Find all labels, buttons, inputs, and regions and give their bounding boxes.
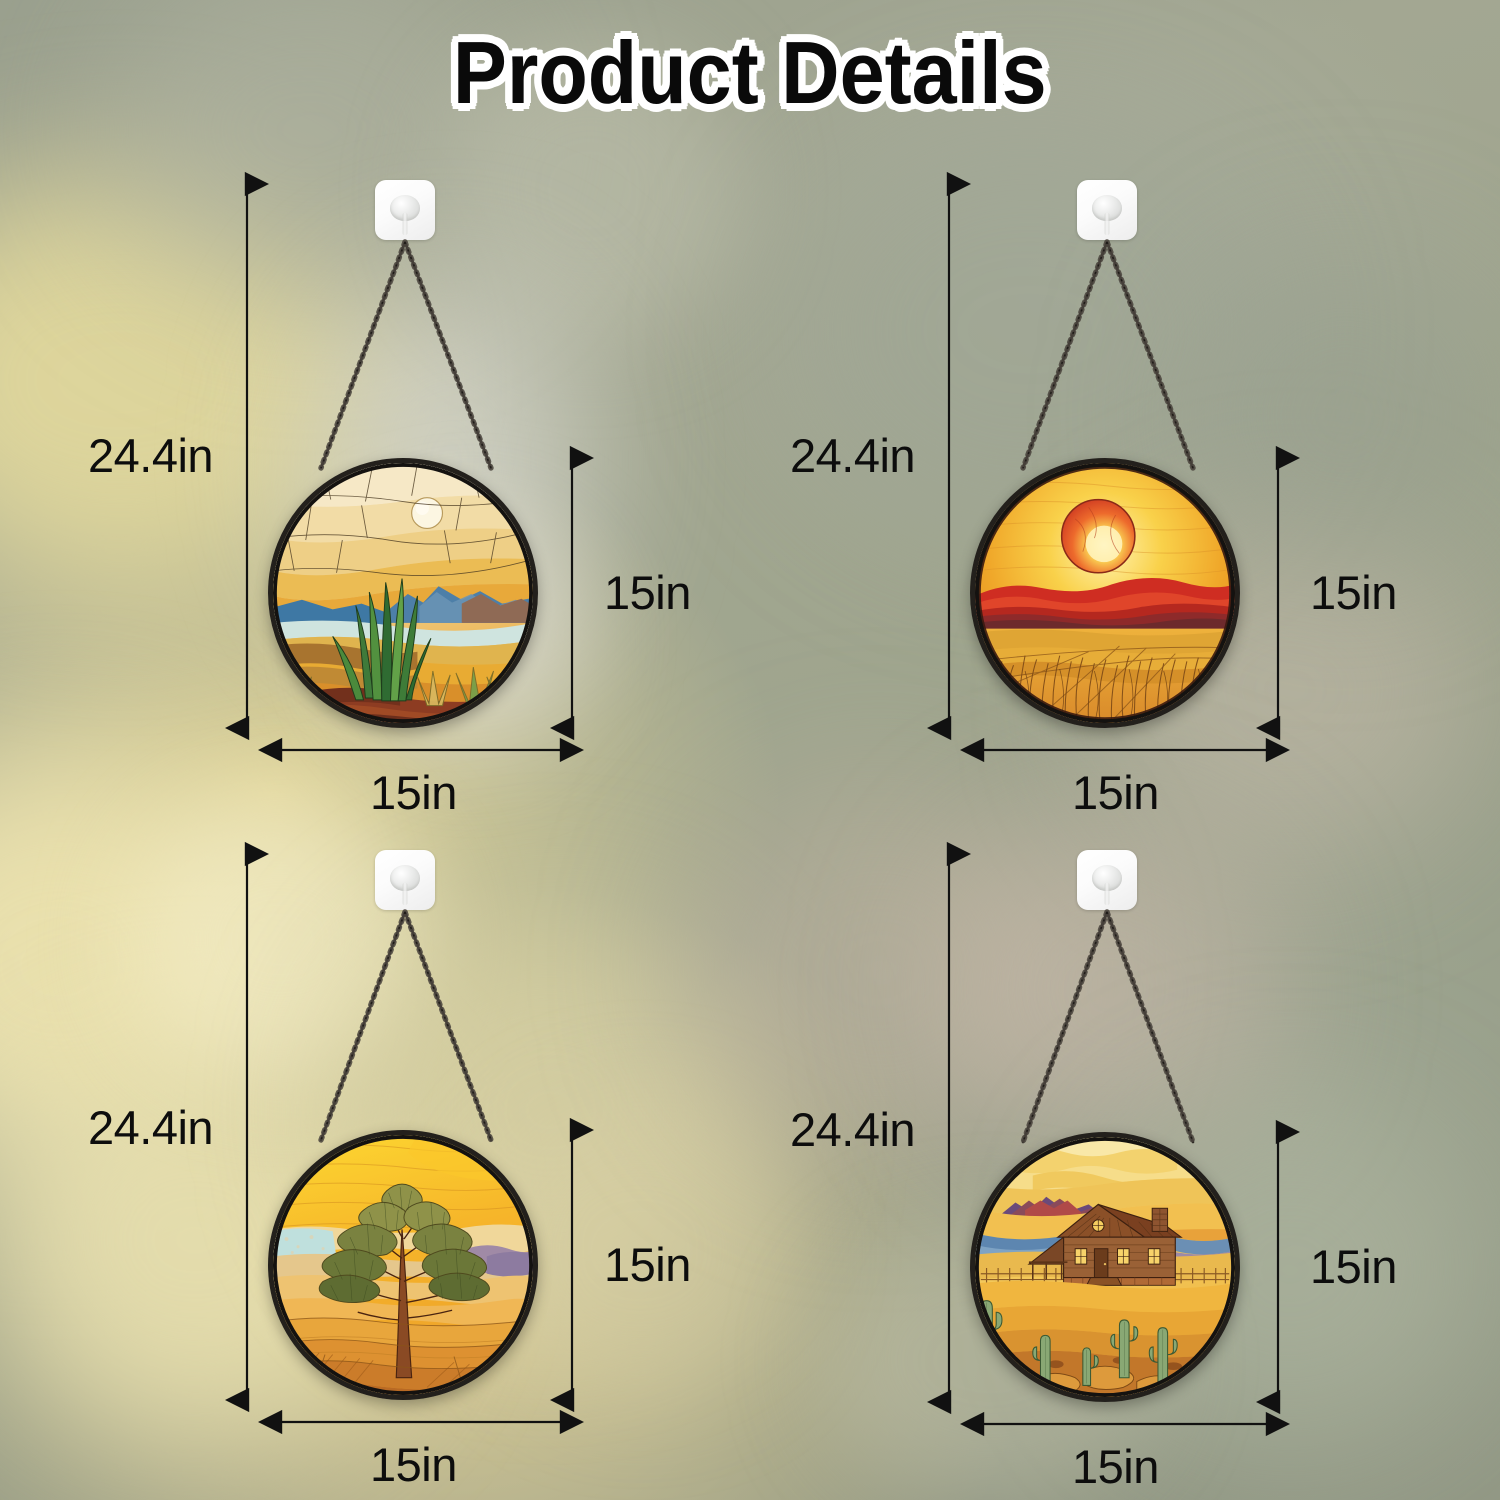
suncatcher-disc-desert-agave[interactable]	[268, 458, 538, 728]
stained-glass-art-agave	[273, 463, 533, 723]
suncatcher-disc-desert-cabin[interactable]	[970, 1132, 1240, 1402]
stained-glass-art-sunset	[975, 463, 1235, 723]
suncatcher-disc-lone-tree[interactable]	[268, 1130, 538, 1400]
product-panel-sunset-prairie: 24.4in 15in 15in	[750, 150, 1500, 840]
product-panel-desert-cabin: 24.4in 15in 15in	[750, 820, 1500, 1500]
stained-glass-art-tree	[273, 1135, 533, 1395]
product-panel-lone-tree: 24.4in 15in 15in	[0, 820, 750, 1500]
stained-glass-art-cabin	[975, 1137, 1235, 1397]
product-panel-desert-agave: 24.4in 15in 15in	[0, 150, 750, 840]
suncatcher-disc-sunset-prairie[interactable]	[970, 458, 1240, 728]
